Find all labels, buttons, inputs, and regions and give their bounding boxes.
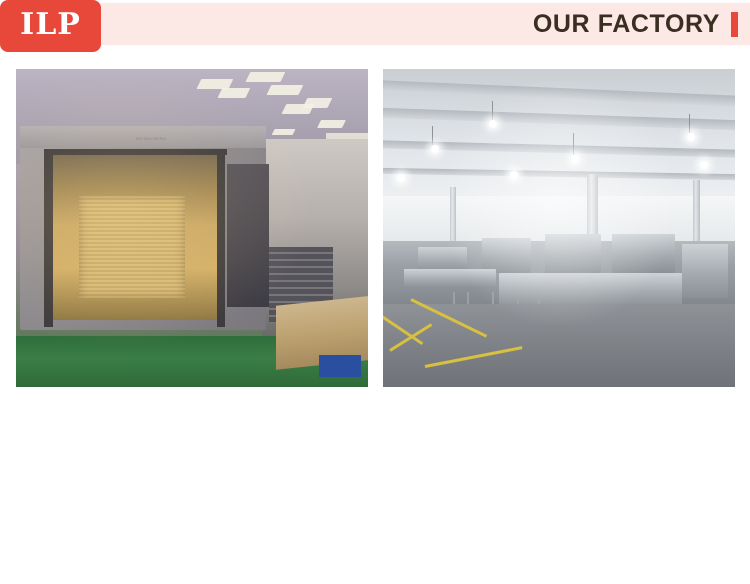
lamp-rod xyxy=(492,101,493,120)
factory-production-lines-photo xyxy=(383,69,735,387)
press-post xyxy=(217,149,226,327)
lamp-rod xyxy=(689,114,690,133)
ceiling-light-icon xyxy=(218,88,251,98)
conveyor-belt xyxy=(499,273,682,308)
press-brand-label: HEIDELBERG xyxy=(136,136,167,141)
ceiling-light-icon xyxy=(267,85,303,95)
production-machine xyxy=(545,234,601,272)
ceiling-lamp-icon xyxy=(489,120,497,128)
ceiling-light-icon xyxy=(302,98,331,108)
ceiling-lamp-icon xyxy=(510,171,518,179)
factory-card-right: More than 100 workers and production lin… xyxy=(383,69,735,387)
logo-text: ILP xyxy=(20,10,81,40)
ceiling-light-icon xyxy=(246,72,286,82)
production-machine xyxy=(682,244,728,298)
header-title-group: OUR FACTORY xyxy=(533,3,738,45)
accent-bar-icon xyxy=(731,12,738,37)
factory-printing-press-photo: HEIDELBERG xyxy=(16,69,368,387)
blue-crate xyxy=(319,355,361,377)
factory-card-left: HEIDELBERG Our factory is mainly engaged… xyxy=(16,69,368,387)
lamp-rod xyxy=(432,126,433,145)
ceiling-lamp-icon xyxy=(431,145,439,153)
ceiling-lamp-icon xyxy=(397,174,405,182)
ceiling-lamp-icon xyxy=(700,161,708,169)
page-header: ILP OUR FACTORY xyxy=(0,0,750,58)
production-machine xyxy=(482,238,531,273)
production-machine xyxy=(612,234,675,272)
factory-floor xyxy=(383,304,735,387)
press-side-panel xyxy=(227,164,269,307)
lamp-rod xyxy=(573,133,574,155)
ceiling-light-icon xyxy=(197,79,233,89)
press-crossbar xyxy=(44,149,227,155)
ceiling-light-icon xyxy=(317,120,345,128)
paper-stack xyxy=(79,196,185,298)
press-post xyxy=(44,149,53,327)
conveyor-belt xyxy=(404,269,496,288)
logo-badge[interactable]: ILP xyxy=(0,0,101,52)
page-title: OUR FACTORY xyxy=(533,12,720,37)
ceiling-light-icon xyxy=(271,129,295,135)
